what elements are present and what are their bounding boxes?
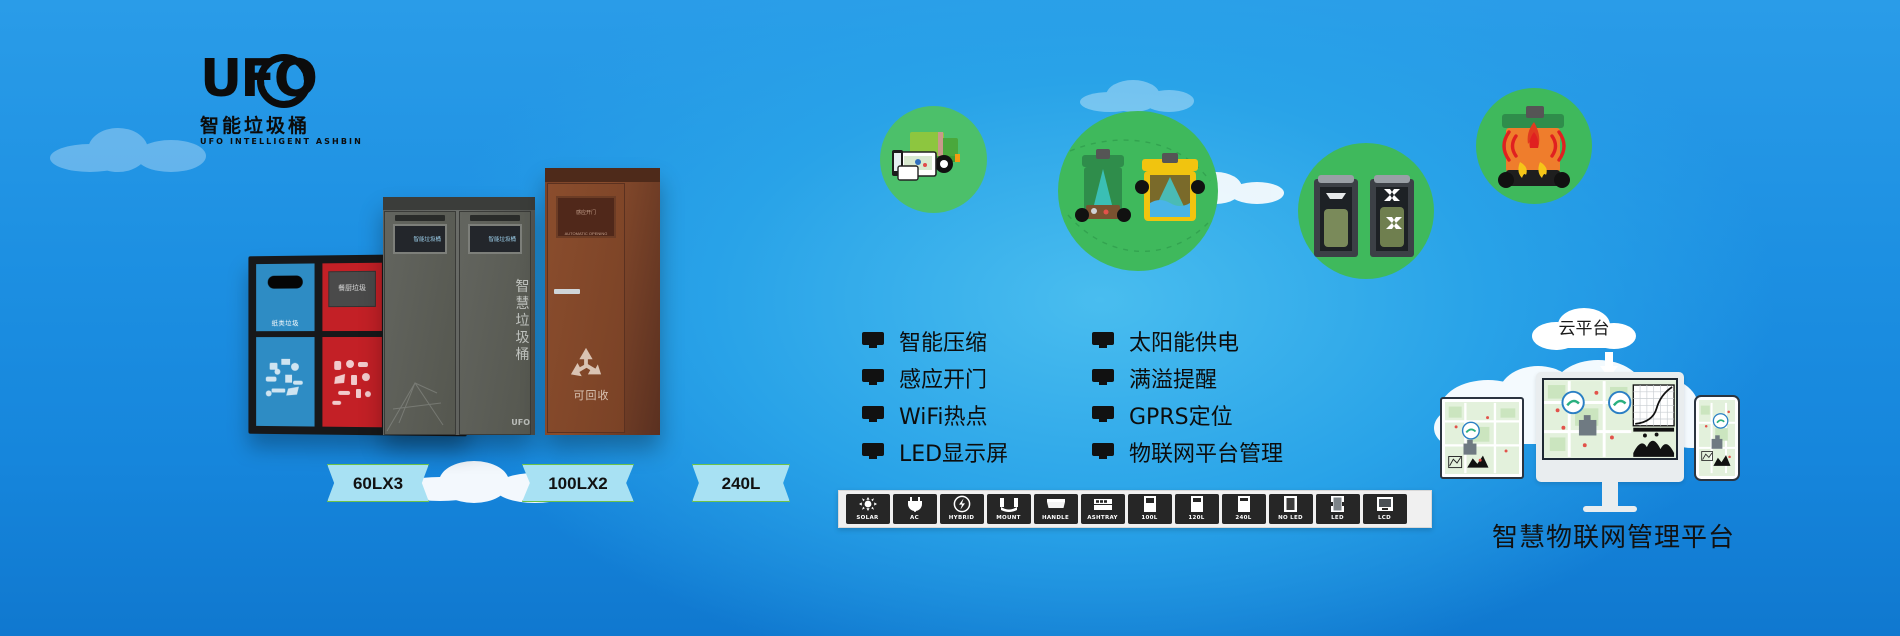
option-solar[interactable]: SOLAR <box>846 494 890 524</box>
tablet-map-view <box>1445 402 1519 474</box>
compartment-panel <box>256 337 314 426</box>
option-label: LCD <box>1363 514 1407 524</box>
option-label: LED <box>1316 514 1360 524</box>
ac-plug-icon <box>893 494 937 514</box>
cloud-platform-label: 云平台 <box>1530 306 1638 352</box>
kitchen-waste-illustration <box>322 337 381 432</box>
bin-label-badge <box>554 289 580 294</box>
feature-item: 感应开门 <box>862 360 1092 395</box>
option-label: MOUNT <box>987 514 1031 524</box>
option-label: 100L <box>1128 514 1172 524</box>
compartment-top: 餐厨垃圾 <box>322 263 381 331</box>
bin-screen-text: 智能垃圾桶 <box>470 226 520 243</box>
monitor-base <box>1583 506 1637 512</box>
door-header-strip <box>470 215 520 221</box>
option-icon-strip: SOLAR AC HYBRID MOUNT HANDLE <box>838 490 1432 528</box>
product-brown-single-bin: 感应开门 AUTOMATIC OPENING 可回收 <box>545 168 660 435</box>
capacity-banner-60lx3: 60LX3 <box>327 464 429 502</box>
feature-item: WiFi热点 <box>862 397 1092 432</box>
monitor-icon <box>862 406 886 423</box>
bin-screen-text: 智能垃圾桶 <box>395 226 445 243</box>
feature-item: GPRS定位 <box>1092 397 1282 432</box>
green-circle-compaction <box>1058 111 1218 271</box>
option-label: AC <box>893 514 937 524</box>
logo-wordmark: UFO <box>200 52 320 112</box>
option-240l[interactable]: 240L <box>1222 494 1266 524</box>
bin-240l-icon <box>1222 494 1266 514</box>
feature-item: 满溢提醒 <box>1092 360 1282 395</box>
bin-display-window: 感应开门 AUTOMATIC OPENING <box>556 196 616 238</box>
green-circle-truck-dispatch <box>880 106 987 213</box>
door-header-strip <box>395 215 445 221</box>
bin-brand-mark: UFO <box>511 418 530 427</box>
option-120l[interactable]: 120L <box>1175 494 1219 524</box>
feature-label: 物联网平台管理 <box>1129 436 1283 468</box>
recycle-icon <box>567 346 605 380</box>
bin-vertical-text: 智慧垃圾桶 <box>515 279 531 364</box>
option-led[interactable]: LED <box>1316 494 1360 524</box>
map-illustration <box>1699 400 1735 476</box>
no-led-icon <box>1269 494 1313 514</box>
monitor-icon <box>862 443 886 460</box>
option-label: ASHTRAY <box>1081 514 1125 524</box>
cloud-decoration-left <box>40 120 220 180</box>
option-handle[interactable]: HANDLE <box>1034 494 1078 524</box>
feature-label: 太阳能供电 <box>1129 325 1239 357</box>
bin-display-window: 智能垃圾桶 <box>393 224 447 254</box>
bin-100l-icon <box>1128 494 1172 514</box>
monitor-icon <box>1092 406 1116 423</box>
two-bins-full-detection-icon <box>1298 143 1434 279</box>
feature-list: 智能压缩 太阳能供电 感应开门 满溢提醒 WiFi热点 GPRS定位 LED显示… <box>862 323 1282 469</box>
monitor-icon <box>1092 369 1116 386</box>
mount-icon <box>987 494 1031 514</box>
graphic-line-decoration <box>385 363 465 433</box>
option-label: NO LED <box>1269 514 1313 524</box>
bin-display-window: 智能垃圾桶 <box>468 224 522 254</box>
option-mount[interactable]: MOUNT <box>987 494 1031 524</box>
product-grey-twin-smart-bin: 智能垃圾桶 智能垃圾桶 智慧垃圾桶 UFO <box>383 197 535 435</box>
option-lcd[interactable]: LCD <box>1363 494 1407 524</box>
option-label: HYBRID <box>940 514 984 524</box>
banner-canvas: UFO 智能垃圾桶 UFO INTELLIGENT ASHBIN 纸类垃圾 <box>0 0 1900 636</box>
bin-120l-icon <box>1175 494 1219 514</box>
platform-caption: 智慧物联网管理平台 <box>1492 525 1852 551</box>
waste-slot-icon <box>268 276 303 289</box>
option-label: SOLAR <box>846 514 890 524</box>
option-label: 240L <box>1222 514 1266 524</box>
feature-item: 太阳能供电 <box>1092 323 1282 358</box>
feature-label: 满溢提醒 <box>1129 362 1217 394</box>
device-desktop-monitor <box>1536 372 1684 482</box>
brand-logo: UFO 智能垃圾桶 UFO INTELLIGENT ASHBIN <box>200 52 320 152</box>
bin-compaction-icon <box>1058 111 1218 271</box>
bin-body: 智能垃圾桶 智能垃圾桶 智慧垃圾桶 UFO <box>383 197 535 435</box>
solar-panel-icon <box>846 494 890 514</box>
device-smartphone <box>1694 395 1740 481</box>
feature-label: GPRS定位 <box>1129 399 1233 431</box>
feature-item: 物联网平台管理 <box>1092 434 1282 469</box>
bin-recycle-label: 可回收 <box>545 387 638 403</box>
ashtray-icon <box>1081 494 1125 514</box>
feature-item: 智能压缩 <box>862 323 1092 358</box>
compartment-label: 餐厨垃圾 <box>329 272 375 306</box>
ufo-ring-icon <box>257 54 311 108</box>
phone-map-view <box>1699 400 1735 476</box>
feature-label: WiFi热点 <box>899 399 988 431</box>
option-100l[interactable]: 100L <box>1128 494 1172 524</box>
bin-compartment: 餐厨垃圾 <box>322 263 381 428</box>
monitor-stand <box>1602 482 1618 508</box>
green-circle-fire-alarm <box>1476 88 1592 204</box>
bin-top-cap <box>545 168 660 182</box>
monitor-icon <box>1092 332 1116 349</box>
compartment-panel <box>322 337 381 427</box>
bin-body: 感应开门 AUTOMATIC OPENING 可回收 <box>545 168 660 435</box>
option-ashtray[interactable]: ASHTRAY <box>1081 494 1125 524</box>
compartment-screen: 餐厨垃圾 <box>328 271 376 307</box>
compartment-top: 纸类垃圾 <box>256 263 314 331</box>
option-label: HANDLE <box>1034 514 1078 524</box>
option-ac[interactable]: AC <box>893 494 937 524</box>
led-icon <box>1316 494 1360 514</box>
garbage-truck-and-devices-icon <box>880 106 987 213</box>
option-no-led[interactable]: NO LED <box>1269 494 1313 524</box>
option-hybrid[interactable]: HYBRID <box>940 494 984 524</box>
cloud-platform-text: 云平台 <box>1530 306 1638 352</box>
compartment-label: 纸类垃圾 <box>256 317 314 327</box>
hybrid-power-icon <box>940 494 984 514</box>
bin-top-cap <box>383 197 535 210</box>
logo-chinese-name: 智能垃圾桶 <box>200 115 320 137</box>
capacity-banner-240l: 240L <box>692 464 790 502</box>
monitor-icon <box>862 369 886 386</box>
bin-screen-text-en: AUTOMATIC OPENING <box>558 218 614 238</box>
logo-english-name: UFO INTELLIGENT ASHBIN <box>200 137 320 147</box>
feature-label: 感应开门 <box>899 362 987 394</box>
option-label: 120L <box>1175 514 1219 524</box>
paper-waste-illustration <box>256 337 314 431</box>
capacity-banner-100lx2: 100LX2 <box>522 464 634 502</box>
feature-label: 智能压缩 <box>899 325 987 357</box>
dashboard-illustration <box>1544 380 1676 458</box>
lcd-icon <box>1363 494 1407 514</box>
monitor-icon <box>862 332 886 349</box>
map-illustration <box>1445 402 1519 474</box>
bin-compartment: 纸类垃圾 <box>256 263 314 426</box>
device-tablet <box>1440 397 1524 479</box>
handle-icon <box>1034 494 1078 514</box>
bin-fire-alarm-icon <box>1476 88 1592 204</box>
green-circle-full-detection <box>1298 143 1434 279</box>
feature-label: LED显示屏 <box>899 436 1008 468</box>
feature-item: LED显示屏 <box>862 434 1092 469</box>
bin-screen-text-cn: 感应开门 <box>558 198 614 218</box>
monitor-screen <box>1542 378 1678 460</box>
monitor-icon <box>1092 443 1116 460</box>
